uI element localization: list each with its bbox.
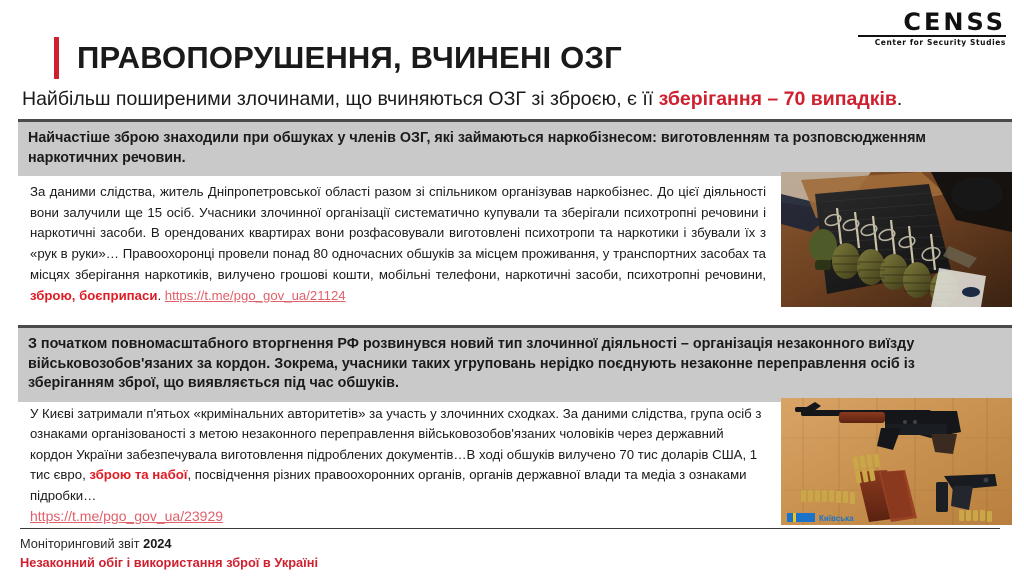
footer-report-year: 2024 (143, 536, 171, 551)
page-title: ПРАВОПОРУШЕННЯ, ВЧИНЕНІ ОЗГ (77, 40, 622, 76)
photo-grenades-illustration (781, 172, 1012, 307)
censs-logo: CENSS Center for Security Studies (856, 10, 1006, 47)
subtitle-text-lead: Найбільш поширеними злочинами, що вчиняю… (22, 88, 659, 110)
photo-rifle-pistol-ammo: Київська (781, 398, 1012, 525)
slide-subtitle: Найбільш поширеними злочинами, що вчиняю… (22, 88, 1010, 111)
footer-divider (20, 528, 1000, 529)
logo-tagline: Center for Security Studies (856, 39, 1006, 47)
footer-report-line: Моніторинговий звіт 2024 (20, 536, 172, 551)
source-link-1[interactable]: https://t.me/pgo_gov_ua/21124 (165, 288, 346, 303)
paragraph-1-text-mid: . (157, 288, 164, 303)
logo-wordmark: CENSS (856, 10, 1006, 34)
photo-weapons-illustration: Київська (781, 398, 1012, 525)
callout-band-1: Найчастіше зброю знаходили при обшуках у… (18, 119, 1012, 176)
slide-title-row: ПРАВОПОРУШЕННЯ, ВЧИНЕНІ ОЗГ (54, 36, 622, 80)
body-paragraph-2: У Києві затримали п'ятьох «кримінальних … (30, 404, 766, 528)
photo-watermark-badge: Київська (787, 513, 854, 523)
subtitle-highlight: зберігання – 70 випадків (659, 88, 897, 110)
paragraph-1-highlight: зброю, боєприпаси (30, 288, 157, 303)
body-paragraph-1: За даними слідства, житель Дніпропетровс… (30, 182, 766, 306)
paragraph-1-text-lead: За даними слідства, житель Дніпропетровс… (30, 184, 766, 282)
callout-band-2: З початком повномасштабного вторгнення Р… (18, 325, 1012, 402)
source-link-2[interactable]: https://t.me/pgo_gov_ua/23929 (30, 508, 223, 524)
title-accent-bar (54, 37, 59, 79)
photo-grenades-on-table (781, 172, 1012, 307)
footer-report-subject: Незаконний обіг і використання зброї в У… (20, 555, 318, 570)
subtitle-text-tail: . (897, 88, 902, 110)
paragraph-2-highlight: зброю та набої (89, 467, 187, 482)
svg-text:Київська: Київська (819, 514, 854, 523)
footer-report-label: Моніторинговий звіт (20, 536, 143, 551)
